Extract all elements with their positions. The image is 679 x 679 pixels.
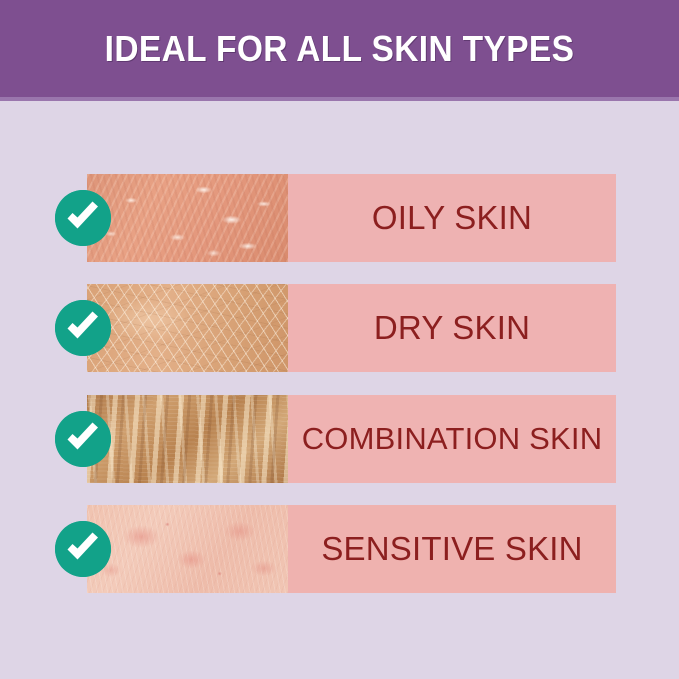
combination-skin-swatch: [87, 395, 288, 483]
check-circle-icon: [55, 300, 111, 356]
sensitive-skin-swatch: [87, 505, 288, 593]
page-title: IDEAL FOR ALL SKIN TYPES: [105, 31, 575, 67]
skin-types-infographic: IDEAL FOR ALL SKIN TYPES OILY SKIN: [0, 0, 679, 679]
check-circle-icon: [55, 190, 111, 246]
header-banner: IDEAL FOR ALL SKIN TYPES: [0, 0, 679, 97]
oily-skin-swatch: [87, 174, 288, 262]
check-circle-icon: [55, 521, 111, 577]
skin-type-label: COMBINATION SKIN: [288, 395, 616, 483]
skin-type-label: OILY SKIN: [288, 174, 616, 262]
list-item: SENSITIVE SKIN: [87, 505, 616, 593]
dry-skin-swatch: [87, 284, 288, 372]
list-item: DRY SKIN: [87, 284, 616, 372]
check-circle-icon: [55, 411, 111, 467]
skin-type-list: OILY SKIN DRY SKIN C: [0, 101, 679, 679]
skin-type-label: SENSITIVE SKIN: [288, 505, 616, 593]
skin-type-label: DRY SKIN: [288, 284, 616, 372]
list-item: OILY SKIN: [87, 174, 616, 262]
list-item: COMBINATION SKIN: [87, 395, 616, 483]
